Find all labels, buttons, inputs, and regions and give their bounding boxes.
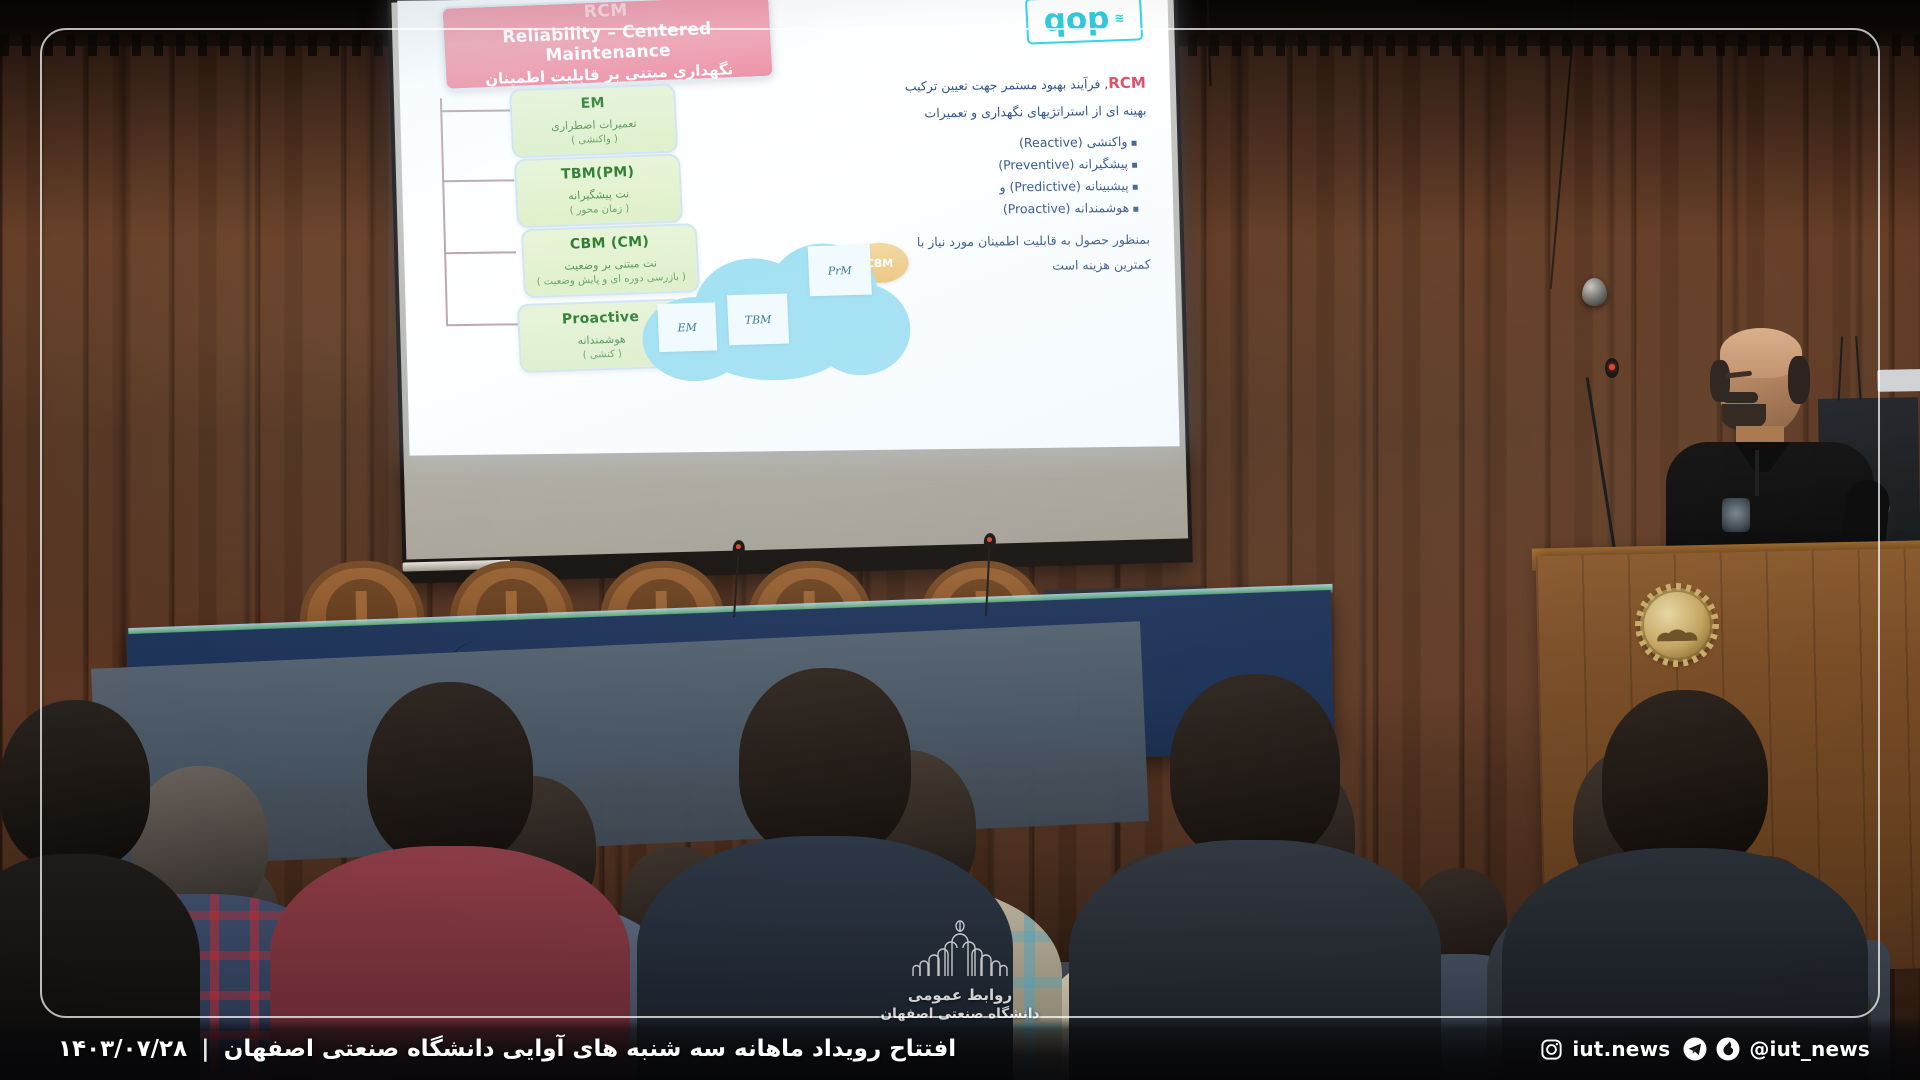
footer-bar: افتتاح رویداد ماهانه سه شنبه های آوایی د… (0, 1018, 1920, 1080)
slide-cloud-diagram: EM TBM PrM CBM (640, 243, 912, 382)
speaker-moustache (1722, 392, 1758, 403)
hanging-microphone-icon (1582, 278, 1607, 306)
slide-lead-acronym: RCM (1108, 74, 1146, 92)
instagram-handle[interactable]: iut.news (1572, 1037, 1670, 1061)
qop-logo-text: qop (1043, 3, 1110, 36)
telegram-icon[interactable] (1683, 1037, 1707, 1061)
cloud-item-tbm: TBM (727, 294, 789, 346)
qop-logo: ≋ qop (1025, 0, 1143, 45)
projection-screen: RCM Reliability – Centered Maintenance ن… (387, 0, 1193, 584)
social-links: iut.news @iut_news (1540, 1037, 1874, 1061)
slide-bullet-list: واکنشی (Reactive) پیشگیرانه (Preventive)… (795, 131, 1139, 223)
slide-lead-line2: بهینه ای از استراتژیهای نگهداری و تعمیرا… (794, 98, 1147, 127)
footer-caption-text: افتتاح رویداد ماهانه سه شنبه های آوایی د… (224, 1036, 956, 1062)
event-photo: RCM Reliability – Centered Maintenance ن… (0, 0, 1920, 1080)
speaker-shirt-emblem (1722, 498, 1750, 532)
eitaa-icon[interactable] (1716, 1037, 1740, 1061)
slide-lead-line1: , فرآیند بهبود مستمر جهت تعیین ترکیب (905, 76, 1109, 93)
speaker-shirt-placket (1755, 450, 1759, 496)
podium-microphone-head (1605, 358, 1619, 378)
speaker-hair-right (1788, 356, 1810, 404)
slide-title-box: RCM Reliability – Centered Maintenance ن… (440, 0, 774, 91)
footer-date: ۱۴۰۳/۰۷/۲۸ (58, 1036, 187, 1062)
footer-caption: افتتاح رویداد ماهانه سه شنبه های آوایی د… (58, 1036, 956, 1062)
slide-bullet-3: هوشمندانه (Proactive) (797, 196, 1140, 222)
projected-slide: RCM Reliability – Centered Maintenance ن… (397, 0, 1179, 456)
eitaa-handle[interactable]: @iut_news (1749, 1037, 1870, 1061)
iut-gear-emblem-icon (1639, 587, 1715, 663)
slide-box-tbm: TBM(PM) نت پیشگیرانه ( زمان محور ) (514, 153, 683, 228)
footer-separator: | (201, 1036, 210, 1062)
instagram-icon[interactable] (1540, 1038, 1563, 1061)
qop-logo-mark: ≋ (1114, 11, 1125, 25)
slide-box-em-label: EM (515, 93, 670, 114)
audience-area (0, 660, 1920, 1080)
cloud-item-em: EM (657, 302, 717, 352)
cloud-item-prm: PrM (808, 244, 872, 296)
slide-box-em: EM تعمیرات اضطراری ( واکنشی ) (509, 84, 678, 159)
slide-box-tbm-label: TBM(PM) (520, 163, 675, 184)
